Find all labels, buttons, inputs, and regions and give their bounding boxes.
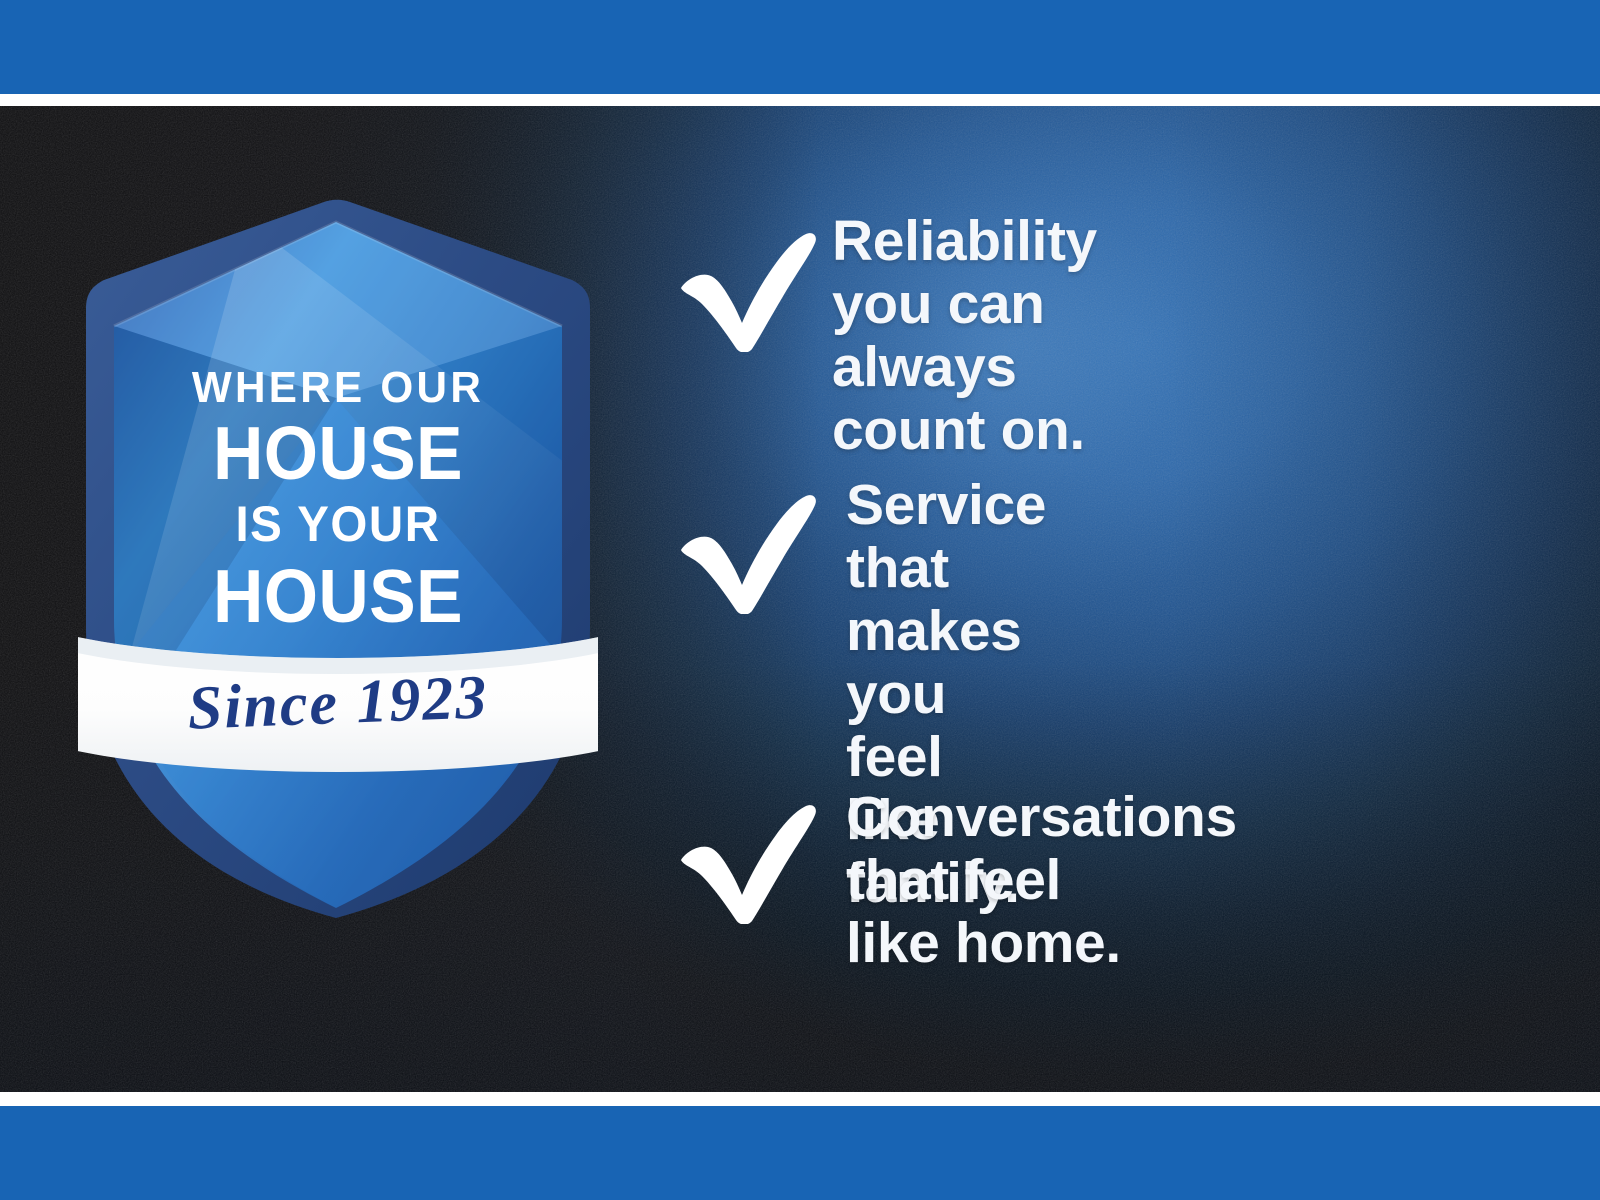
bottom-brand-bar bbox=[0, 1106, 1600, 1200]
badge-line-house-bottom: HOUSE bbox=[96, 559, 580, 634]
benefits-list: Reliability you can always count on. Ser… bbox=[660, 106, 1560, 1092]
benefit-text: Conversations that feel like home. bbox=[846, 786, 1237, 975]
shield-graphic bbox=[78, 188, 598, 918]
badge-line-where-our: WHERE OUR bbox=[88, 366, 587, 410]
check-icon bbox=[670, 492, 820, 614]
marketing-graphic: WHERE OUR HOUSE IS YOUR HOUSE Since 1923… bbox=[0, 0, 1600, 1200]
badge-line-is-your: IS YOUR bbox=[91, 499, 585, 549]
check-icon bbox=[670, 230, 820, 352]
badge-line-house-top: HOUSE bbox=[96, 416, 580, 491]
top-brand-bar bbox=[0, 0, 1600, 94]
benefit-text: Reliability you can always count on. bbox=[832, 210, 1097, 462]
heritage-shield-badge: WHERE OUR HOUSE IS YOUR HOUSE Since 1923 bbox=[78, 188, 598, 918]
check-icon bbox=[670, 802, 820, 924]
